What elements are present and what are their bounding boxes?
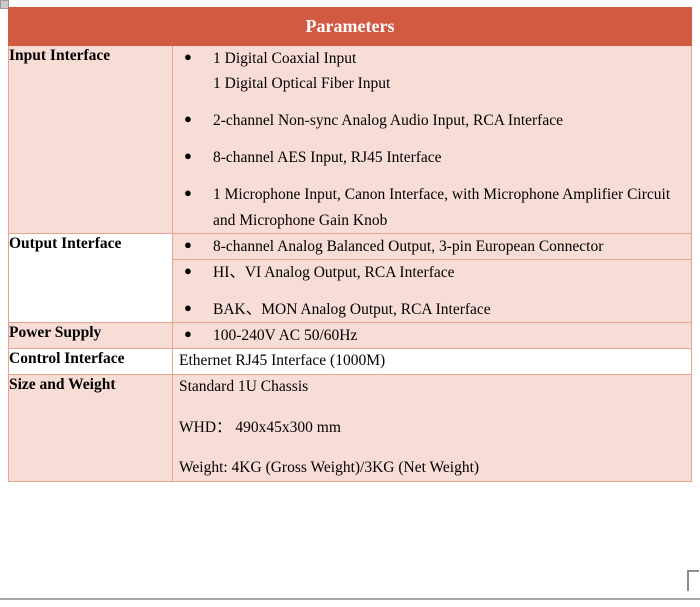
row-label-input-interface: Input Interface	[9, 46, 173, 234]
row-value-output-interface-a: ● 8-channel Analog Balanced Output, 3-pi…	[173, 233, 692, 259]
list-item-line: 8-channel Analog Balanced Output, 3-pin …	[213, 234, 691, 259]
list-item-line: 1 Microphone Input, Canon Interface, wit…	[213, 182, 691, 232]
bullet-list-output-interface-b: ● HI、VI Analog Output, RCA Interface ● B…	[173, 260, 691, 322]
row-value-control-interface: Ethernet RJ45 Interface (1000M)	[173, 349, 692, 375]
table-row-size-and-weight: Size and Weight Standard 1U Chassis WHD：…	[9, 374, 692, 481]
bullet-icon: ●	[184, 108, 192, 129]
bullet-list-power-supply: ● 100-240V AC 50/60Hz	[173, 323, 691, 348]
list-item-line: 100-240V AC 50/60Hz	[213, 323, 691, 348]
row-value-power-supply: ● 100-240V AC 50/60Hz	[173, 322, 692, 348]
list-item: ● 8-channel Analog Balanced Output, 3-pi…	[173, 234, 691, 259]
list-item: ● 1 Microphone Input, Canon Interface, w…	[173, 182, 691, 232]
row-label-control-interface: Control Interface	[9, 349, 173, 375]
value-line: Standard 1U Chassis	[173, 375, 691, 400]
bullet-icon: ●	[184, 323, 192, 344]
list-item-line: 1 Digital Optical Fiber Input	[213, 71, 691, 96]
bullet-icon: ●	[184, 297, 192, 318]
table-row-output-interface: Output Interface ● 8-channel Analog Bala…	[9, 233, 692, 259]
row-value-output-interface-b: ● HI、VI Analog Output, RCA Interface ● B…	[173, 259, 692, 322]
value-line: Ethernet RJ45 Interface (1000M)	[173, 349, 691, 374]
bullet-list-input-interface: ● 1 Digital Coaxial Input 1 Digital Opti…	[173, 46, 691, 233]
row-value-input-interface: ● 1 Digital Coaxial Input 1 Digital Opti…	[173, 46, 692, 234]
list-item: ● BAK、MON Analog Output, RCA Interface	[173, 297, 691, 322]
parameters-table: Parameters Input Interface ● 1 Digital C…	[8, 7, 692, 482]
list-item-line: HI、VI Analog Output, RCA Interface	[213, 260, 691, 285]
bullet-icon: ●	[184, 46, 192, 67]
list-item: ● 8-channel AES Input, RJ45 Interface	[173, 145, 691, 170]
list-item: ● 100-240V AC 50/60Hz	[173, 323, 691, 348]
bullet-icon: ●	[184, 145, 192, 166]
document-selection-handle-bottom-right	[687, 570, 699, 591]
row-label-size-and-weight: Size and Weight	[9, 374, 173, 481]
row-value-size-and-weight: Standard 1U Chassis WHD： 490x45x300 mm W…	[173, 374, 692, 481]
list-item-line: 1 Digital Coaxial Input	[213, 46, 691, 71]
list-item: ● HI、VI Analog Output, RCA Interface	[173, 260, 691, 285]
table-row-power-supply: Power Supply ● 100-240V AC 50/60Hz	[9, 322, 692, 348]
value-line: Weight: 4KG (Gross Weight)/3KG (Net Weig…	[173, 456, 691, 481]
list-item-line: 2-channel Non-sync Analog Audio Input, R…	[213, 108, 691, 133]
parameters-table-container: Parameters Input Interface ● 1 Digital C…	[8, 7, 691, 482]
bullet-icon: ●	[184, 260, 192, 281]
row-label-power-supply: Power Supply	[9, 322, 173, 348]
list-item: ● 1 Digital Coaxial Input 1 Digital Opti…	[173, 46, 691, 96]
list-item: ● 2-channel Non-sync Analog Audio Input,…	[173, 108, 691, 133]
row-label-output-interface: Output Interface	[9, 233, 173, 322]
bullet-icon: ●	[184, 182, 192, 203]
list-item-line: BAK、MON Analog Output, RCA Interface	[213, 297, 691, 322]
table-title: Parameters	[9, 8, 692, 46]
table-row-control-interface: Control Interface Ethernet RJ45 Interfac…	[9, 349, 692, 375]
table-header-row: Parameters	[9, 8, 692, 46]
bullet-list-output-interface-a: ● 8-channel Analog Balanced Output, 3-pi…	[173, 234, 691, 259]
page-bottom-rule	[0, 598, 700, 600]
list-item-line: 8-channel AES Input, RJ45 Interface	[213, 145, 691, 170]
bullet-icon: ●	[184, 234, 192, 255]
value-line: WHD： 490x45x300 mm	[173, 416, 691, 441]
table-row-input-interface: Input Interface ● 1 Digital Coaxial Inpu…	[9, 46, 692, 234]
